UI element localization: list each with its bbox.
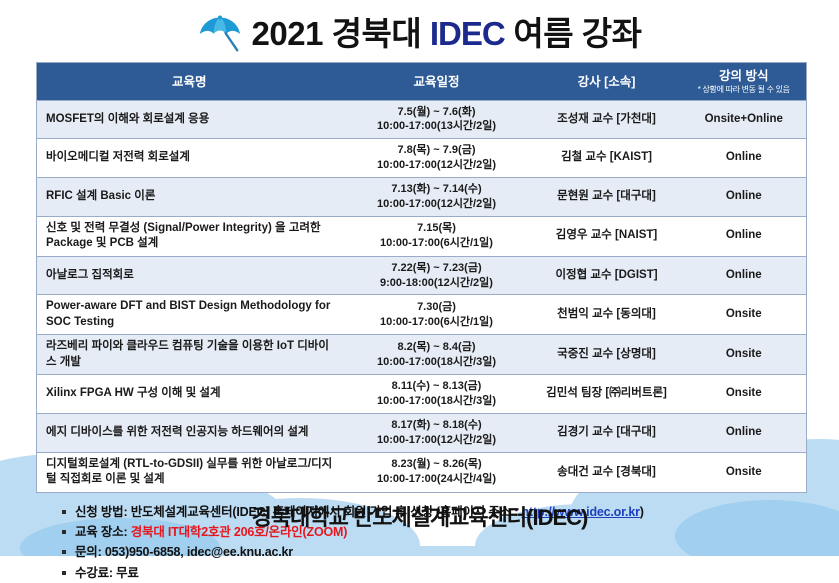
table-row: 디지털회로설계 (RTL-to-GDSII) 실무를 위한 아날로그/디지털 직… bbox=[37, 452, 807, 492]
cell-schedule: 8.17(화) ~ 8.18(수)10:00-17:00(12시간/2일) bbox=[342, 414, 532, 453]
cell-course-name: MOSFET의 이해와 회로설계 응용 bbox=[37, 100, 342, 139]
cell-schedule: 7.22(목) ~ 7.23(금)9:00-18:00(12시간/2일) bbox=[342, 256, 532, 295]
schedule-time: 10:00-17:00(18시간/3일) bbox=[348, 355, 526, 370]
cell-course-name: 라즈베리 파이와 클라우드 컴퓨팅 기술을 이용한 IoT 디바이스 개발 bbox=[37, 335, 342, 375]
cell-course-name: 디지털회로설계 (RTL-to-GDSII) 실무를 위한 아날로그/디지털 직… bbox=[37, 452, 342, 492]
cell-lecture-mode: Online bbox=[682, 256, 807, 295]
column-subnote: * 상황에 따라 변동 될 수 있음 bbox=[686, 85, 803, 94]
table-row: Xilinx FPGA HW 구성 이해 및 설계8.11(수) ~ 8.13(… bbox=[37, 375, 807, 414]
cell-course-name: 에지 디바이스를 위한 저전력 인공지능 하드웨어의 설계 bbox=[37, 414, 342, 453]
schedule-date: 7.5(월) ~ 7.6(화) bbox=[348, 105, 526, 120]
table-row: 에지 디바이스를 위한 저전력 인공지능 하드웨어의 설계8.17(화) ~ 8… bbox=[37, 414, 807, 453]
column-header-schedule: 교육일정 bbox=[342, 63, 532, 101]
cell-lecturer: 조성재 교수 [가천대] bbox=[532, 100, 682, 139]
column-label: 교육일정 bbox=[413, 75, 459, 89]
schedule-time: 10:00-17:00(18시간/3일) bbox=[348, 394, 526, 409]
table-header: 교육명 교육일정 강사 [소속] 강의 방식 * 상황에 따라 변동 될 수 있… bbox=[37, 63, 807, 101]
title-prefix: 2021 경북대 bbox=[252, 15, 430, 52]
column-label: 교육명 bbox=[172, 75, 207, 89]
table-row: MOSFET의 이해와 회로설계 응용7.5(월) ~ 7.6(화)10:00-… bbox=[37, 100, 807, 139]
course-schedule-table: 교육명 교육일정 강사 [소속] 강의 방식 * 상황에 따라 변동 될 수 있… bbox=[36, 62, 807, 493]
note-text: 문의: 053)950-6858, idec@ee.knu.ac.kr bbox=[75, 545, 293, 559]
cell-lecturer: 김경기 교수 [대구대] bbox=[532, 414, 682, 453]
schedule-time: 9:00-18:00(12시간/2일) bbox=[348, 276, 526, 291]
poster-title-bar: 2021 경북대 IDEC 여름 강좌 bbox=[0, 0, 839, 60]
parasol-icon bbox=[198, 13, 242, 53]
cell-lecture-mode: Online bbox=[682, 414, 807, 453]
cell-schedule: 7.5(월) ~ 7.6(화)10:00-17:00(13시간/2일) bbox=[342, 100, 532, 139]
cell-lecture-mode: Onsite bbox=[682, 295, 807, 335]
cell-lecturer: 국중진 교수 [상명대] bbox=[532, 335, 682, 375]
title-suffix: 여름 강좌 bbox=[505, 15, 642, 52]
column-label: 강사 [소속] bbox=[578, 75, 636, 89]
cell-lecture-mode: Onsite bbox=[682, 375, 807, 414]
cell-lecture-mode: Online bbox=[682, 139, 807, 178]
title-idec: IDEC bbox=[430, 15, 505, 52]
schedule-date: 7.30(금) bbox=[348, 300, 526, 315]
cell-lecturer: 송대건 교수 [경북대] bbox=[532, 452, 682, 492]
cell-lecturer: 김영우 교수 [NAIST] bbox=[532, 216, 682, 256]
schedule-date: 7.15(목) bbox=[348, 221, 526, 236]
schedule-time: 10:00-17:00(13시간/2일) bbox=[348, 119, 526, 134]
schedule-date: 8.11(수) ~ 8.13(금) bbox=[348, 379, 526, 394]
table-header-row: 교육명 교육일정 강사 [소속] 강의 방식 * 상황에 따라 변동 될 수 있… bbox=[37, 63, 807, 101]
column-header-mode: 강의 방식 * 상황에 따라 변동 될 수 있음 bbox=[682, 63, 807, 101]
schedule-time: 10:00-17:00(12시간/2일) bbox=[348, 158, 526, 173]
schedule-date: 8.23(월) ~ 8.26(목) bbox=[348, 457, 526, 472]
cell-lecturer: 김철 교수 [KAIST] bbox=[532, 139, 682, 178]
schedule-time: 10:00-17:00(24시간/4일) bbox=[348, 472, 526, 487]
cell-lecture-mode: Online bbox=[682, 216, 807, 256]
note-item-fee: 수강료: 무료 bbox=[62, 563, 839, 583]
cell-lecture-mode: Onsite bbox=[682, 452, 807, 492]
cell-schedule: 8.11(수) ~ 8.13(금)10:00-17:00(18시간/3일) bbox=[342, 375, 532, 414]
table-row: Power-aware DFT and BIST Design Methodol… bbox=[37, 295, 807, 335]
cell-schedule: 7.30(금)10:00-17:00(6시간/1일) bbox=[342, 295, 532, 335]
cell-lecturer: 천범익 교수 [동의대] bbox=[532, 295, 682, 335]
cell-lecturer: 문현원 교수 [대구대] bbox=[532, 177, 682, 216]
cell-course-name: 바이오메디컬 저전력 회로설계 bbox=[37, 139, 342, 178]
table-row: RFIC 설계 Basic 이론7.13(화) ~ 7.14(수)10:00-1… bbox=[37, 177, 807, 216]
table-row: 신호 및 전력 무결성 (Signal/Power Integrity) 을 고… bbox=[37, 216, 807, 256]
schedule-time: 10:00-17:00(6시간/1일) bbox=[348, 315, 526, 330]
column-label: 강의 방식 bbox=[719, 69, 768, 83]
cell-schedule: 8.2(목) ~ 8.4(금)10:00-17:00(18시간/3일) bbox=[342, 335, 532, 375]
table-row: 바이오메디컬 저전력 회로설계7.8(목) ~ 7.9(금)10:00-17:0… bbox=[37, 139, 807, 178]
schedule-date: 7.13(화) ~ 7.14(수) bbox=[348, 182, 526, 197]
schedule-date: 7.8(목) ~ 7.9(금) bbox=[348, 143, 526, 158]
page-title: 2021 경북대 IDEC 여름 강좌 bbox=[252, 17, 642, 50]
cell-course-name: 신호 및 전력 무결성 (Signal/Power Integrity) 을 고… bbox=[37, 216, 342, 256]
cell-lecture-mode: Onsite bbox=[682, 335, 807, 375]
table-row: 아날로그 집적회로7.22(목) ~ 7.23(금)9:00-18:00(12시… bbox=[37, 256, 807, 295]
schedule-time: 10:00-17:00(12시간/2일) bbox=[348, 197, 526, 212]
cell-schedule: 7.8(목) ~ 7.9(금)10:00-17:00(12시간/2일) bbox=[342, 139, 532, 178]
schedule-date: 8.17(화) ~ 8.18(수) bbox=[348, 418, 526, 433]
schedule-date: 8.2(목) ~ 8.4(금) bbox=[348, 340, 526, 355]
table-body: MOSFET의 이해와 회로설계 응용7.5(월) ~ 7.6(화)10:00-… bbox=[37, 100, 807, 492]
cell-course-name: 아날로그 집적회로 bbox=[37, 256, 342, 295]
schedule-table-wrapper: 교육명 교육일정 강사 [소속] 강의 방식 * 상황에 따라 변동 될 수 있… bbox=[36, 62, 806, 493]
note-item-contact: 문의: 053)950-6858, idec@ee.knu.ac.kr bbox=[62, 542, 839, 562]
column-header-course-name: 교육명 bbox=[37, 63, 342, 101]
note-text: 수강료: 무료 bbox=[75, 566, 139, 580]
cell-course-name: RFIC 설계 Basic 이론 bbox=[37, 177, 342, 216]
cell-lecturer: 김민석 팀장 [㈜리버트론] bbox=[532, 375, 682, 414]
schedule-time: 10:00-17:00(6시간/1일) bbox=[348, 236, 526, 251]
table-row: 라즈베리 파이와 클라우드 컴퓨팅 기술을 이용한 IoT 디바이스 개발8.2… bbox=[37, 335, 807, 375]
cell-schedule: 8.23(월) ~ 8.26(목)10:00-17:00(24시간/4일) bbox=[342, 452, 532, 492]
column-header-lecturer: 강사 [소속] bbox=[532, 63, 682, 101]
schedule-time: 10:00-17:00(12시간/2일) bbox=[348, 433, 526, 448]
cell-lecturer: 이정협 교수 [DGIST] bbox=[532, 256, 682, 295]
cell-course-name: Power-aware DFT and BIST Design Methodol… bbox=[37, 295, 342, 335]
cell-lecture-mode: Online bbox=[682, 177, 807, 216]
cell-course-name: Xilinx FPGA HW 구성 이해 및 설계 bbox=[37, 375, 342, 414]
footer-organization: 경북대학교 반도체설계교육센터(IDEC) bbox=[0, 500, 839, 532]
schedule-date: 7.22(목) ~ 7.23(금) bbox=[348, 261, 526, 276]
cell-schedule: 7.15(목)10:00-17:00(6시간/1일) bbox=[342, 216, 532, 256]
cell-schedule: 7.13(화) ~ 7.14(수)10:00-17:00(12시간/2일) bbox=[342, 177, 532, 216]
cell-lecture-mode: Onsite+Online bbox=[682, 100, 807, 139]
